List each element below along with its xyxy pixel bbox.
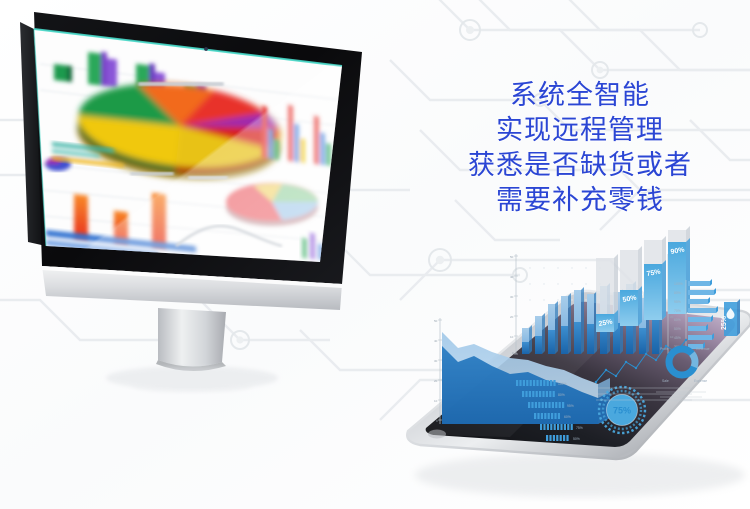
desktop-monitor <box>0 0 410 324</box>
webcam-dot <box>204 47 208 51</box>
promo-banner: 5040 3020 100 <box>0 0 750 509</box>
headline-line-1: 系统全智能 <box>420 78 740 113</box>
headline-line-2: 实现远程管理 <box>420 113 740 148</box>
smartphone-device <box>390 245 750 509</box>
headline-block: 系统全智能 实现远程管理 获悉是否缺货或者 需要补充零钱 <box>420 78 740 218</box>
headline-line-3: 获悉是否缺货或者 <box>420 148 740 183</box>
headline-line-4: 需要补充零钱 <box>420 183 740 218</box>
